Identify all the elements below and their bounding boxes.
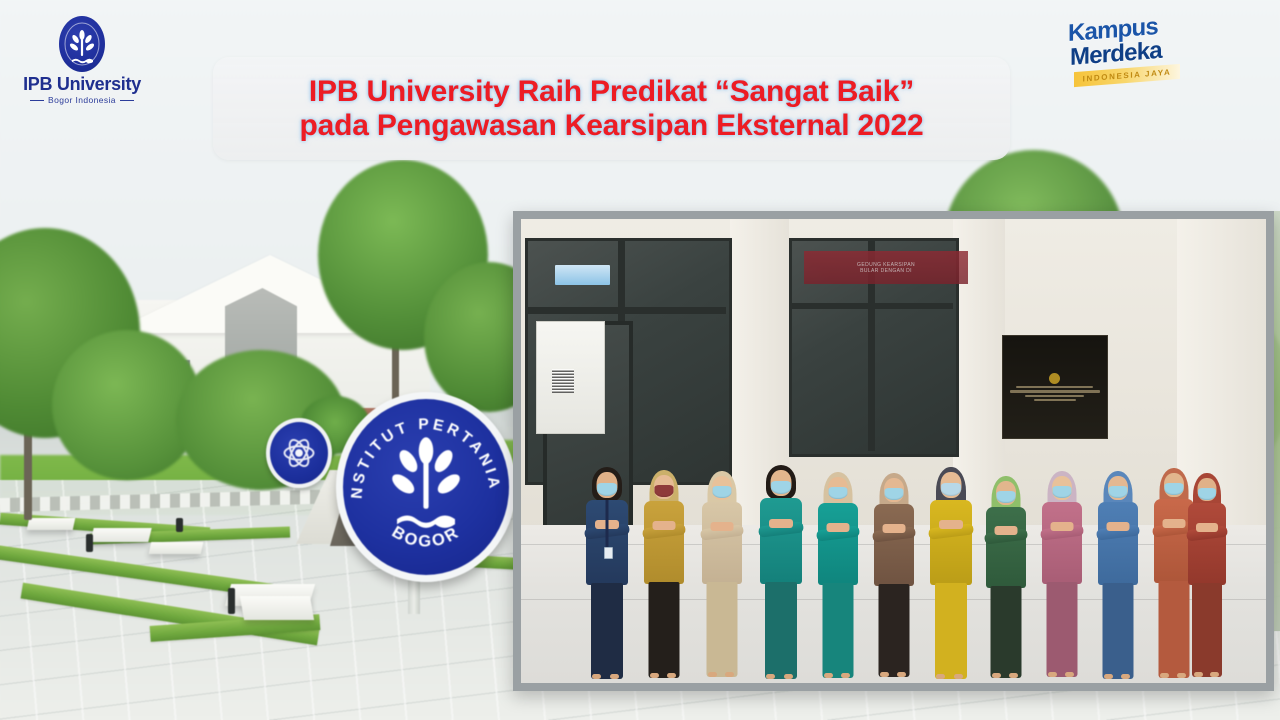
legs [707,582,738,677]
hands [653,521,676,530]
hands [883,524,906,533]
person [813,472,863,678]
foot [650,673,659,678]
banner-text-line2: BULAR DENGAN DI [860,268,912,274]
plaque-text-line [1034,399,1076,401]
torso [702,502,742,584]
face-mask [885,488,904,500]
torso [644,501,684,584]
foot [1160,673,1169,678]
foot [880,672,889,677]
person [755,465,807,679]
torso [1042,502,1082,584]
ipb-tagline-row: Bogor Indonesia [30,95,134,105]
legs [765,582,797,679]
tagline-dash-right [120,100,134,101]
face-mask [1165,483,1184,495]
legs [1047,582,1078,677]
plaque-text-line [1010,390,1100,393]
face-mask [771,481,791,494]
title-line-1: IPB University Raih Predikat “Sangat Bai… [309,75,914,109]
foot [1104,674,1113,679]
foot [954,674,963,679]
lanyard [606,500,609,547]
blue-sticker-sign [555,265,611,284]
kampus-merdeka-tagline: INDONESIA JAYA [1083,68,1172,84]
ipb-university-logo: IPB University Bogor Indonesia [12,16,152,114]
person [697,471,747,677]
hands [995,526,1018,535]
face-mask [997,491,1016,503]
foot [592,674,601,679]
hands [769,519,793,528]
person [925,467,977,679]
foot [1009,673,1018,678]
person [581,467,633,679]
face-mask [597,483,617,496]
foot [1121,674,1130,679]
legs [879,584,910,677]
person [1093,471,1143,679]
foot [824,673,833,678]
foot [936,674,945,679]
foot [784,674,793,679]
tagline-dash-left [30,100,44,101]
foot [992,673,1001,678]
person [1037,471,1087,677]
face-mask [655,485,674,497]
legs [1103,583,1134,679]
id-badge [604,547,613,559]
face-mask [941,483,961,496]
face-mask [829,487,848,499]
hands [1107,522,1130,531]
plaque-crest-icon [1049,373,1060,384]
hands [827,523,850,532]
slide-root: INSTITUT PERTANIAN BOGOR [0,0,1280,720]
torso [760,498,802,584]
ipb-seal-icon [59,16,105,72]
foot [1065,672,1074,677]
red-banner-sign: GEDUNG KEARSIPAN BULAR DENGAN DI [804,251,968,283]
foot [1210,672,1219,677]
legs [591,583,623,679]
foot [1048,672,1057,677]
plaque-text-line [1016,386,1093,388]
foot [667,673,676,678]
face-mask [1109,486,1128,498]
foot [766,674,775,679]
plaque-text-line [1025,395,1083,397]
foot [708,672,717,677]
person [639,470,689,678]
face-mask [713,486,732,498]
group-photo: GEDUNG KEARSIPAN BULAR DENGAN DI [521,219,1266,683]
foot [897,672,906,677]
torso [986,507,1026,588]
torso [1098,502,1138,585]
legs [1192,583,1222,677]
ipb-wordmark: IPB University [23,75,141,94]
qr-code-icon [552,369,575,393]
notice-board [536,321,605,434]
torso [930,500,972,585]
person [869,473,919,677]
foot [725,672,734,677]
torso [1188,503,1226,585]
ipb-tagline: Bogor Indonesia [48,95,116,105]
torso [818,503,858,585]
hands [711,522,734,531]
face-mask [1198,488,1216,500]
torso [874,504,914,586]
legs [935,583,967,679]
hands [1196,523,1218,532]
legs [649,582,680,678]
face-mask [1053,486,1072,498]
wall-plaque [1002,335,1108,439]
title-line-2: pada Pengawasan Kearsipan Eksternal 2022 [300,109,924,143]
foot [841,673,850,678]
foot [1194,672,1203,677]
legs [823,583,854,678]
hands [1051,522,1074,531]
kampus-merdeka-logo: Kampus Merdeka INDONESIA JAYA [1068,18,1196,96]
person [981,476,1031,678]
hands [939,520,963,529]
legs [991,586,1022,678]
group-photo-frame: GEDUNG KEARSIPAN BULAR DENGAN DI [513,211,1274,691]
person [1183,473,1231,677]
window-mullion [525,307,726,313]
foot [610,674,619,679]
title-panel: IPB University Raih Predikat “Sangat Bai… [213,57,1010,160]
